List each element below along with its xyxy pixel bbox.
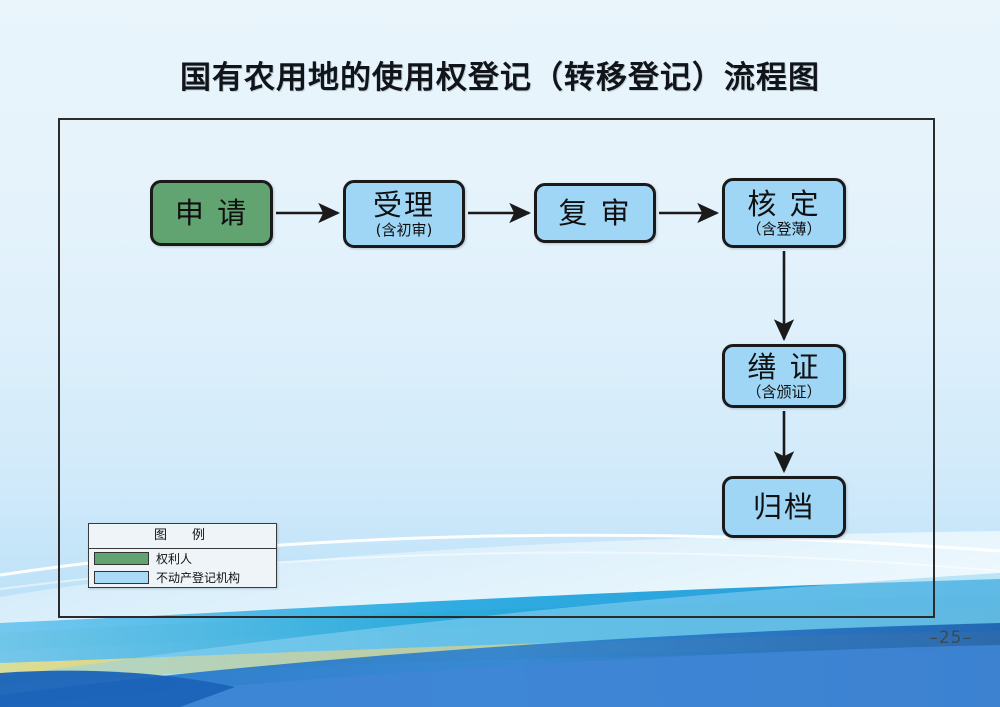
flow-node-shenqing[interactable]: 申 请 <box>150 180 273 246</box>
flow-node-label: 核 定 <box>747 190 820 219</box>
flow-node-sublabel: (含初审) <box>376 223 433 238</box>
legend-box: 图 例 权利人 不动产登记机构 <box>88 523 277 588</box>
flow-node-label: 归档 <box>753 493 815 522</box>
flow-node-heding[interactable]: 核 定 （含登薄） <box>722 178 846 248</box>
flow-node-guidang[interactable]: 归档 <box>722 476 846 538</box>
legend-label-registry: 不动产登记机构 <box>156 569 240 586</box>
flow-node-sublabel: （含登薄） <box>746 222 821 237</box>
legend-label-applicant: 权利人 <box>156 550 192 567</box>
legend-item-applicant: 权利人 <box>89 549 276 568</box>
flow-node-label: 复 审 <box>558 199 631 228</box>
legend-item-registry: 不动产登记机构 <box>89 568 276 587</box>
legend-swatch-registry <box>94 571 149 584</box>
page-number: –25– <box>929 628 972 648</box>
legend-swatch-applicant <box>94 552 149 565</box>
slide-canvas: 国有农用地的使用权登记（转移登记）流程图 申 请 受理 (含初审) 复 审 核 … <box>0 0 1000 707</box>
legend-title: 图 例 <box>89 524 276 549</box>
flow-node-sublabel: （含颁证） <box>746 385 821 400</box>
flow-node-label: 受理 <box>373 191 435 220</box>
flow-node-shanzheng[interactable]: 缮 证 （含颁证） <box>722 344 846 408</box>
flow-node-shouli[interactable]: 受理 (含初审) <box>343 180 465 248</box>
flow-node-fushen[interactable]: 复 审 <box>534 183 656 243</box>
flow-node-label: 缮 证 <box>747 353 820 382</box>
page-title: 国有农用地的使用权登记（转移登记）流程图 <box>0 52 1000 97</box>
flow-node-label: 申 请 <box>175 199 248 228</box>
